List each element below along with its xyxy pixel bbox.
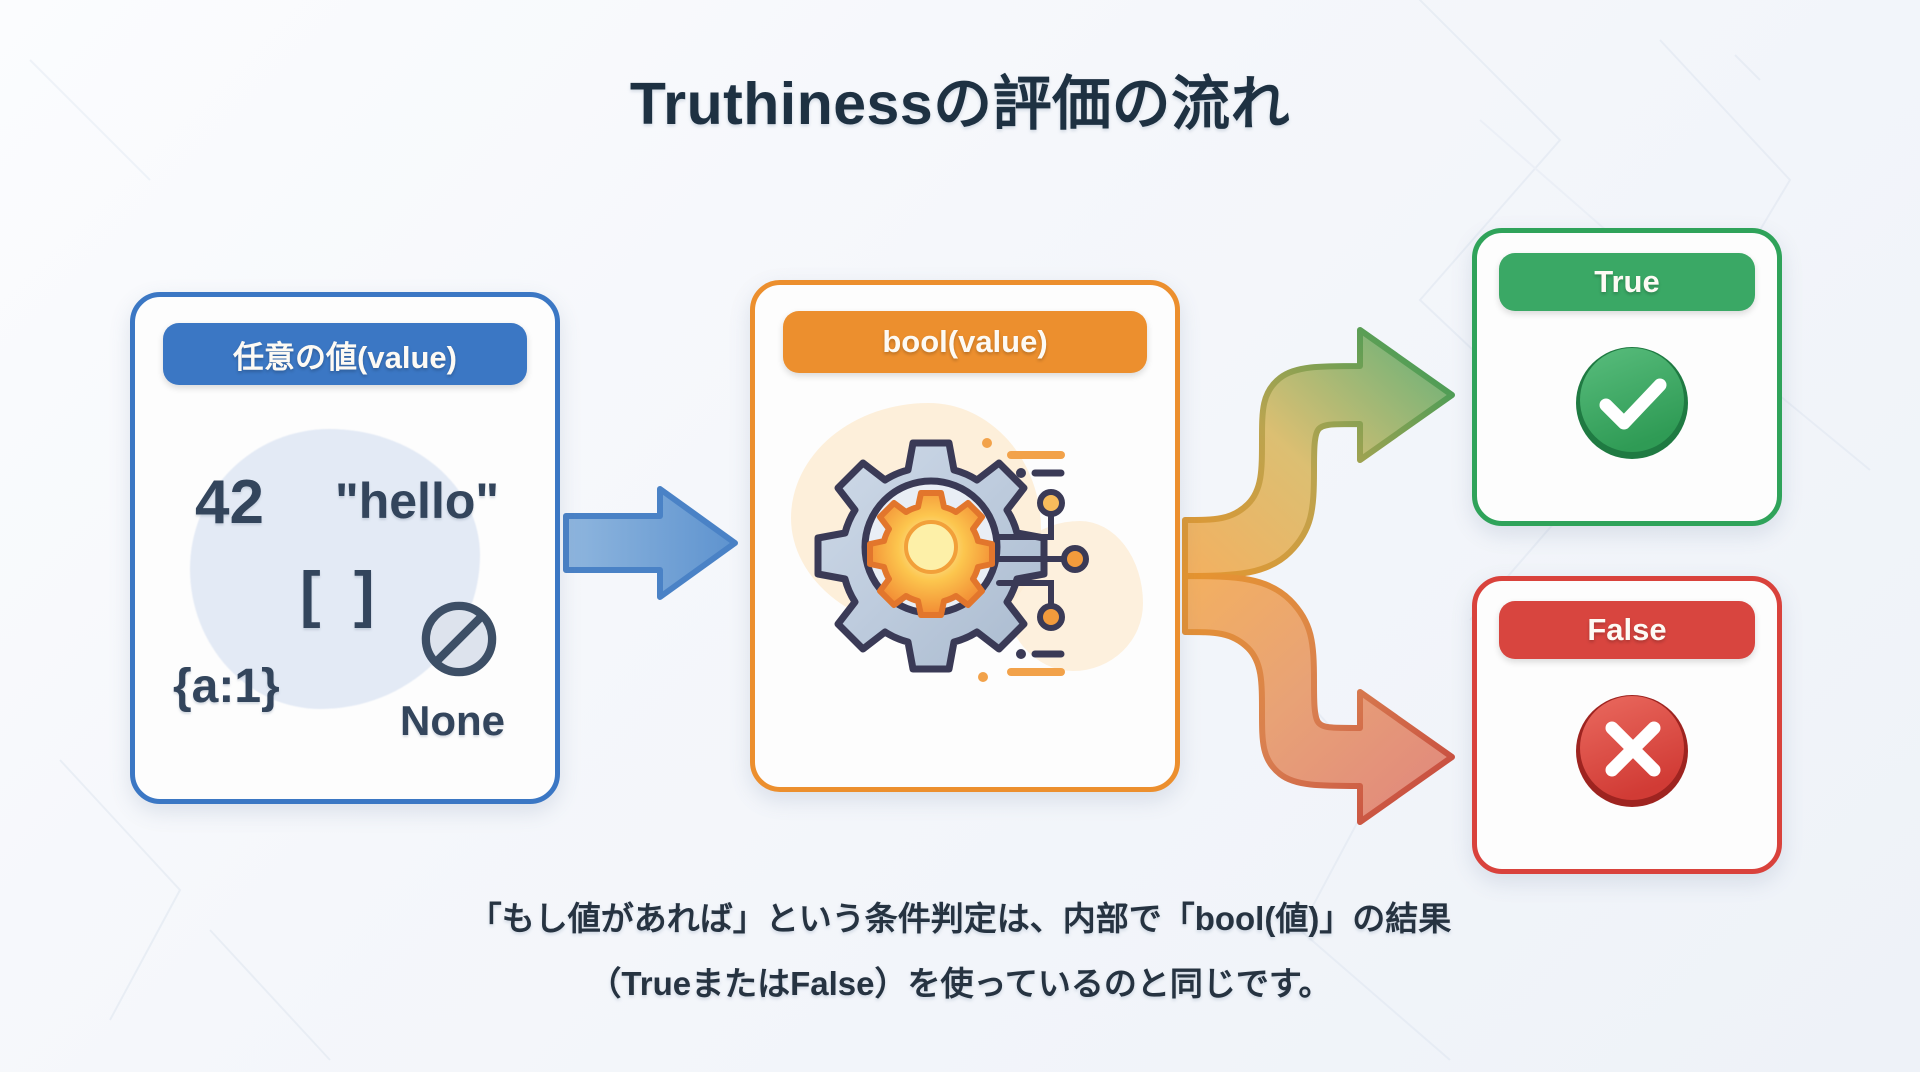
gear-circuit-icon (803, 397, 1139, 697)
input-arrow (566, 489, 735, 597)
caption-line-2: （TrueまたはFalse）を使っているのと同じです。 (0, 958, 1920, 1009)
diagram-canvas: Truthinessの評価の流れ (0, 0, 1920, 1072)
value-sample-empty-list: [ ] (300, 559, 383, 630)
value-card: 任意の値(value) 42 "hello" [ ] {a:1} None (130, 292, 560, 804)
bool-card: bool(value) (750, 280, 1180, 792)
false-branch-arrow (1185, 576, 1452, 822)
page-title: Truthinessの評価の流れ (0, 56, 1920, 141)
true-card-header: True (1499, 253, 1755, 311)
cross-circle-icon (1570, 689, 1694, 813)
value-sample-dict: {a:1} (173, 659, 280, 714)
caption-line-1: 「もし値があれば」という条件判定は、内部で「bool(値)」の結果 (0, 893, 1920, 944)
value-sample-string: "hello" (335, 472, 499, 530)
check-circle-icon (1570, 341, 1694, 465)
true-result-card: True (1472, 228, 1782, 526)
false-card-header: False (1499, 601, 1755, 659)
false-result-card: False (1472, 576, 1782, 874)
true-branch-arrow (1185, 330, 1452, 576)
prohibition-icon (413, 593, 505, 685)
bool-card-header: bool(value) (783, 311, 1147, 373)
value-sample-integer: 42 (195, 467, 264, 538)
value-sample-none: None (400, 697, 505, 745)
value-card-header: 任意の値(value) (163, 323, 527, 385)
